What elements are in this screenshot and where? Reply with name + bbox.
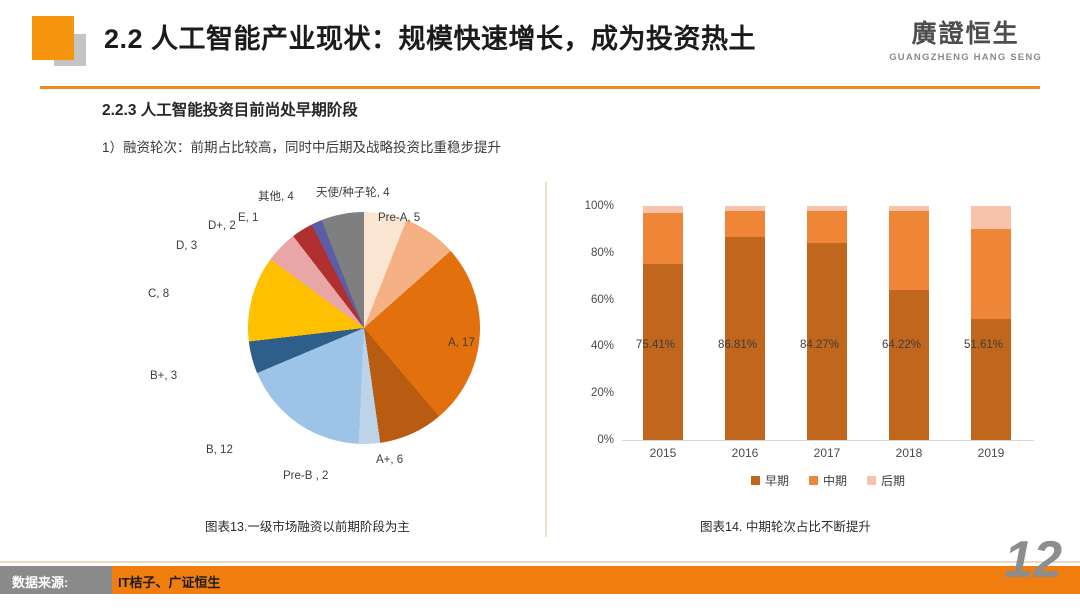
bar-chart-y-tick: 40% [591,340,614,352]
legend-label: 中期 [823,472,847,489]
bar-segment-中期 [643,213,683,264]
bar-chart-y-tick: 100% [585,200,614,212]
bar-value-label: 84.27% [800,339,839,351]
bar-value-label: 75.41% [636,339,675,351]
bar-segment-中期 [889,211,929,290]
bar-chart: 0%20%40%60%80%100% 20152016201720182019 … [560,190,1060,490]
legend-swatch-icon [867,476,876,485]
bar-value-label: 51.61% [964,339,1003,351]
caption-left: 图表13.一级市场融资以前期阶段为主 [205,516,410,535]
bar-chart-y-tick: 80% [591,247,614,259]
bar-value-label: 86.81% [718,339,757,351]
bar-value-label: 64.22% [882,339,921,351]
pie-slice-label: E, 1 [238,212,258,224]
pie-slice-label: B, 12 [206,444,233,456]
legend-swatch-icon [809,476,818,485]
bar-segment-中期 [725,211,765,237]
pie-slice-label: C, 8 [148,288,169,300]
pie-chart-graphic [248,212,480,444]
slide: 2.2 人工智能产业现状：规模快速增长，成为投资热土 廣證恒生 GUANGZHE… [0,0,1080,608]
legend-item: 后期 [867,472,905,489]
bar-chart-column [725,206,765,440]
legend-label: 早期 [765,472,789,489]
section-bullet-text: 1）融资轮次：前期占比较高，同时中后期及战略投资比重稳步提升 [102,136,501,156]
bar-chart-column [889,206,929,440]
bar-chart-column [807,206,847,440]
bar-segment-后期 [971,206,1011,229]
pie-slice-label: Pre-A, 5 [378,212,420,224]
bar-chart-x-label: 2016 [715,446,775,460]
bar-chart-x-label: 2017 [797,446,857,460]
pie-slice-label: 天使/种子轮, 4 [316,184,389,200]
footer-source-value: IT桔子、广证恒生 [118,572,221,591]
bar-chart-x-label: 2018 [879,446,939,460]
company-logo: 廣證恒生 GUANGZHENG HANG SENG [889,22,1042,63]
logo-chinese-text: 廣證恒生 [889,22,1042,47]
footer-source-label: 数据来源: [12,572,68,591]
legend-swatch-icon [751,476,760,485]
footer-rule [0,561,1080,563]
header-orange-square-icon [32,16,74,60]
bar-chart-x-label: 2019 [961,446,1021,460]
legend-label: 后期 [881,472,905,489]
charts-vertical-divider [545,182,547,537]
bar-chart-y-axis: 0%20%40%60%80%100% [560,206,614,440]
slide-header: 2.2 人工智能产业现状：规模快速增长，成为投资热土 廣證恒生 GUANGZHE… [0,0,1080,84]
pie-slice-label: Pre-B , 2 [283,470,328,482]
bar-segment-早期 [889,290,929,440]
bar-chart-y-tick: 0% [597,434,614,446]
page-title: 2.2 人工智能产业现状：规模快速增长，成为投资热土 [104,17,756,56]
page-number: 12 [1004,534,1062,586]
legend-item: 中期 [809,472,847,489]
bar-segment-早期 [971,319,1011,440]
legend-item: 早期 [751,472,789,489]
bar-chart-y-tick: 60% [591,294,614,306]
logo-english-text: GUANGZHENG HANG SENG [889,52,1042,63]
bar-segment-中期 [807,211,847,243]
bar-segment-中期 [971,229,1011,319]
pie-slice-label: D+, 2 [208,220,236,232]
pie-slice-label: D, 3 [176,240,197,252]
bar-segment-后期 [643,206,683,213]
pie-chart: 天使/种子轮, 4Pre-A, 5A, 17A+, 6Pre-B , 2B, 1… [148,182,538,512]
bar-segment-早期 [643,264,683,440]
bar-chart-x-label: 2015 [633,446,693,460]
bar-chart-column [971,206,1011,440]
pie-slice-label: B+, 3 [150,370,177,382]
bar-chart-x-axis-line [622,440,1034,441]
caption-right: 图表14. 中期轮次占比不断提升 [700,516,871,535]
bar-chart-y-tick: 20% [591,387,614,399]
bar-chart-plot-area [622,206,1032,440]
pie-slice-label: A+, 6 [376,454,403,466]
bar-chart-legend: 早期中期后期 [622,472,1034,489]
pie-slice-label: 其他, 4 [258,188,294,204]
section-heading: 2.2.3 人工智能投资目前尚处早期阶段 [102,98,358,120]
bar-chart-column [643,206,683,440]
header-divider-rule [40,86,1040,89]
pie-slice-label: A, 17 [448,337,475,349]
